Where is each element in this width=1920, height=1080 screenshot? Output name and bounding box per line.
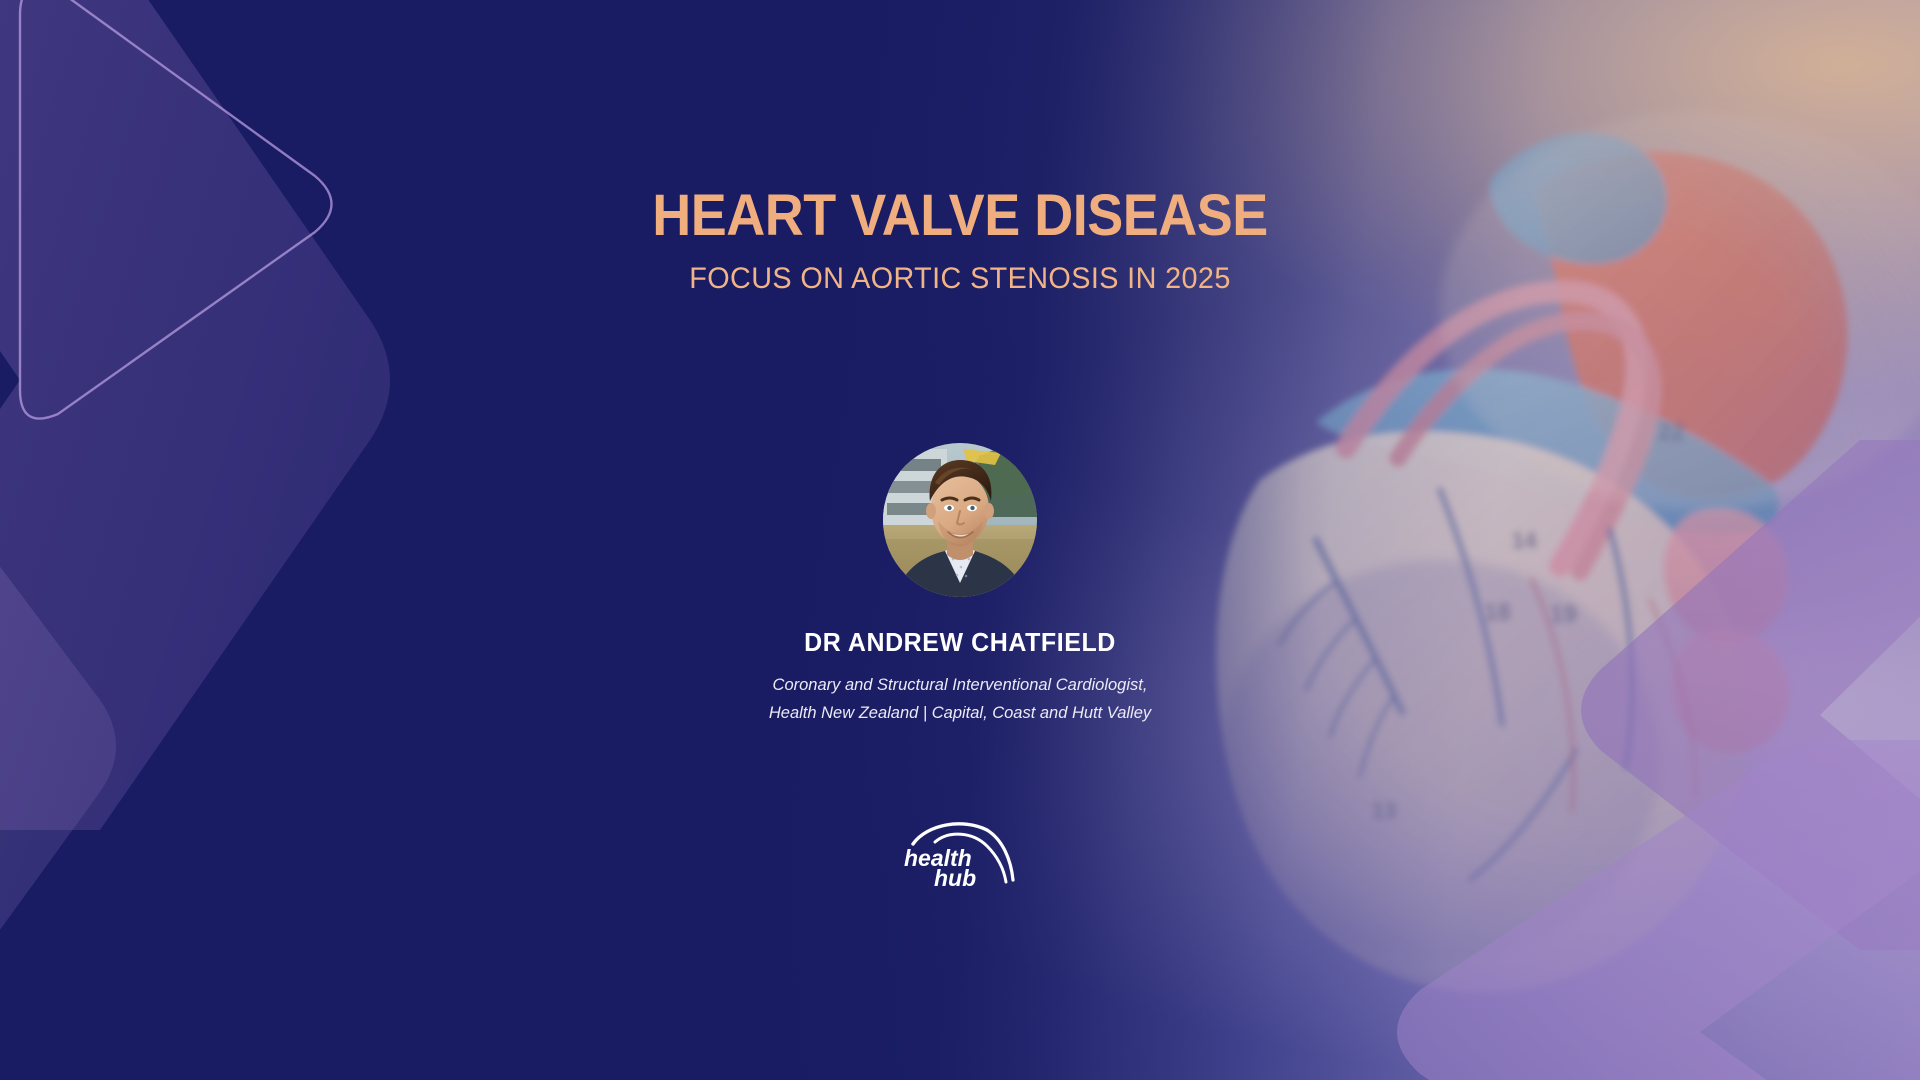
avatar <box>883 443 1037 597</box>
brand-logo: health hub <box>0 818 1920 893</box>
presenter-name: DR ANDREW CHATFIELD <box>38 627 1881 658</box>
presenter-role-line-2: Health New Zealand | Capital, Coast and … <box>29 699 1891 727</box>
logo-word-bottom: hub <box>934 865 976 891</box>
health-hub-logo-icon: health hub <box>901 818 1019 888</box>
page-subtitle: FOCUS ON AORTIC STENOSIS IN 2025 <box>38 262 1881 296</box>
logo-arc-outer-tail <box>987 830 1013 880</box>
headline-block: HEART VALVE DISEASE FOCUS ON AORTIC STEN… <box>0 186 1920 296</box>
presenter-role-line-1: Coronary and Structural Interventional C… <box>29 671 1891 699</box>
presenter-role: Coronary and Structural Interventional C… <box>29 671 1891 726</box>
presenter-block: DR ANDREW CHATFIELD Coronary and Structu… <box>0 443 1920 726</box>
title-slide: 22 14 18 19 13 <box>0 0 1920 1080</box>
page-title: HEART VALVE DISEASE <box>67 186 1853 245</box>
